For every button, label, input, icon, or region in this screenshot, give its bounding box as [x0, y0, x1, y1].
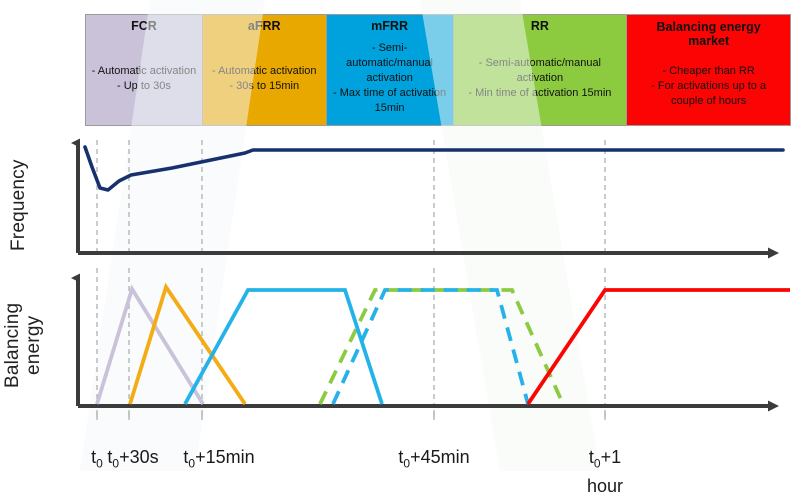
- plot-canvas: [0, 0, 800, 471]
- x-tick-rest-t0-30s: +30s: [119, 447, 159, 467]
- x-tick-rest-t0-45min: +45min: [410, 447, 470, 467]
- x-tick-label-t0-15min: t0+15min: [164, 424, 274, 475]
- background-watermark: [80, 0, 600, 471]
- x-tick-label-t0-1hour: t0+1 hour: [567, 424, 643, 497]
- diagram-root: FCR - Automatic activation - Up to 30s a…: [0, 0, 800, 471]
- x-tick-label-t0-30s: t0+30s: [91, 424, 175, 475]
- x-tick-sub-t0-1hour: 0: [594, 457, 601, 471]
- x-tick-rest-t0-15min: +15min: [195, 447, 255, 467]
- x-tick-label-t0-45min: t0+45min: [379, 424, 489, 475]
